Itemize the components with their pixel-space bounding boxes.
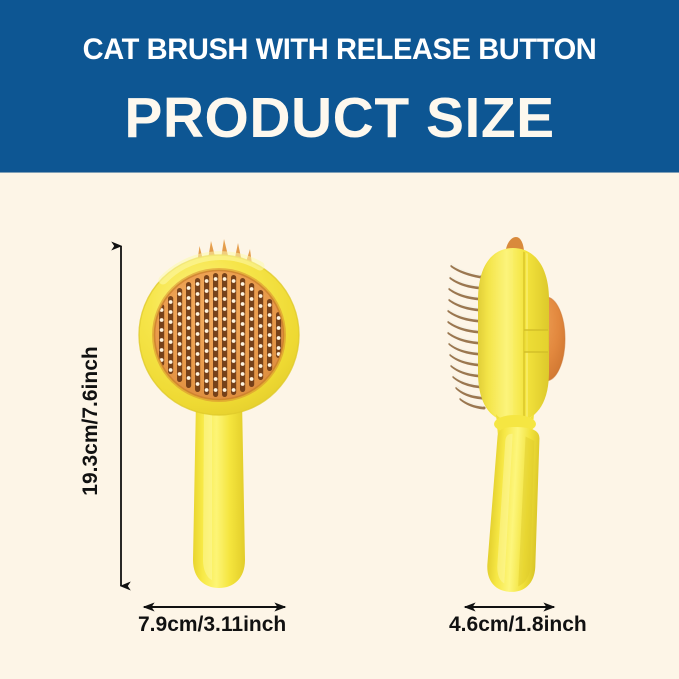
- product-size-infographic: CAT BRUSH WITH RELEASE BUTTON PRODUCT SI…: [0, 0, 679, 679]
- front-width-dimension-label: 7.9cm/3.11inch: [138, 613, 286, 637]
- side-width-dimension-label: 4.6cm/1.8inch: [449, 613, 587, 637]
- height-dimension-label: 19.3cm/7.6inch: [79, 321, 103, 521]
